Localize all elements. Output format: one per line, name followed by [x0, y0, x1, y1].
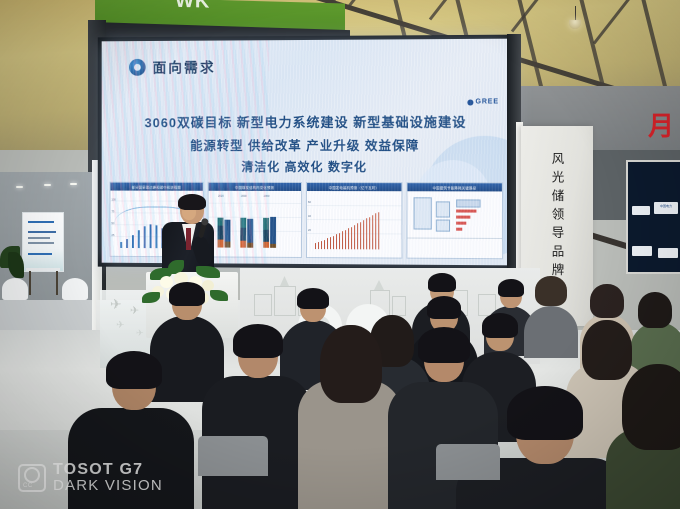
left-room-poster [22, 212, 64, 272]
gree-brand-logo: GREE [467, 98, 499, 105]
podium-flower [160, 276, 173, 288]
gree-logo-dot [467, 99, 473, 105]
display-card-label: 中国电力 [654, 202, 678, 208]
chart-panel-4-plot [407, 191, 502, 258]
chart-panel-2-plot: 2020 2030 2060 [208, 191, 301, 257]
presenter-hair [178, 194, 206, 210]
slide-line-2: 能源转型 供给改革 产业升级 效益保障 [102, 135, 511, 154]
audience-chair [436, 444, 500, 480]
left-room-chair-2 [62, 278, 88, 300]
chart-panel-3[interactable]: 中国发电装机预测（亿千瓦时） 60 40 [306, 182, 402, 259]
watermark-line-1: TOSOT G7 [53, 462, 163, 478]
left-room-chair-1 [2, 278, 28, 300]
gree-brand-text: GREE [475, 98, 499, 105]
exhibition-presentation-photo: WK 面向需求 GREE 3060双碳目标 新型电力系统建设 新型基 [0, 0, 680, 509]
presenter-tie [186, 228, 191, 250]
camera-lens-icon: CC [18, 464, 46, 492]
red-brand-logo-icon: 月 [648, 112, 674, 142]
chart-panel-1-title: 部分国家碳达峰和碳中和进程图 [110, 183, 202, 191]
slide-line-1: 3060双碳目标 新型电力系统建设 新型基础设施建设 [102, 112, 511, 132]
camera-watermark: CC TOSOT G7 DARK VISION [18, 462, 163, 493]
left-room-desk [26, 268, 60, 271]
chart-panel-3-title: 中国发电装机预测（亿千瓦时） [307, 183, 401, 191]
podium-leaf-5 [210, 290, 228, 301]
chart-panel-4[interactable]: 中国建筑节能降耗关键路径 [406, 182, 503, 259]
chart-panel-2[interactable]: 中国煤炭结构内变化预测 202 [207, 182, 302, 258]
slide-line-3: 清洁化 高效化 数字化 [102, 158, 511, 175]
audience-chair [198, 436, 268, 476]
right-dark-display: 中国电力 [626, 160, 680, 274]
watermark-text: TOSOT G7 DARK VISION [53, 462, 163, 493]
chart-panel-3-plot: 60 40 20 [307, 191, 401, 258]
chart-panel-4-title: 中国建筑节能降耗关键路径 [407, 183, 502, 191]
watermark-line-2: DARK VISION [53, 478, 163, 493]
booth-vertical-sign-text: 风光储领导品牌 [548, 152, 567, 282]
green-banner-text: WK [175, 0, 210, 14]
watermark-badge: CC [23, 483, 33, 489]
gree-circle-logo [129, 59, 146, 76]
slide-title: 面向需求 [153, 57, 216, 77]
chart-panel-2-title: 中国煤炭结构内变化预测 [208, 183, 301, 191]
